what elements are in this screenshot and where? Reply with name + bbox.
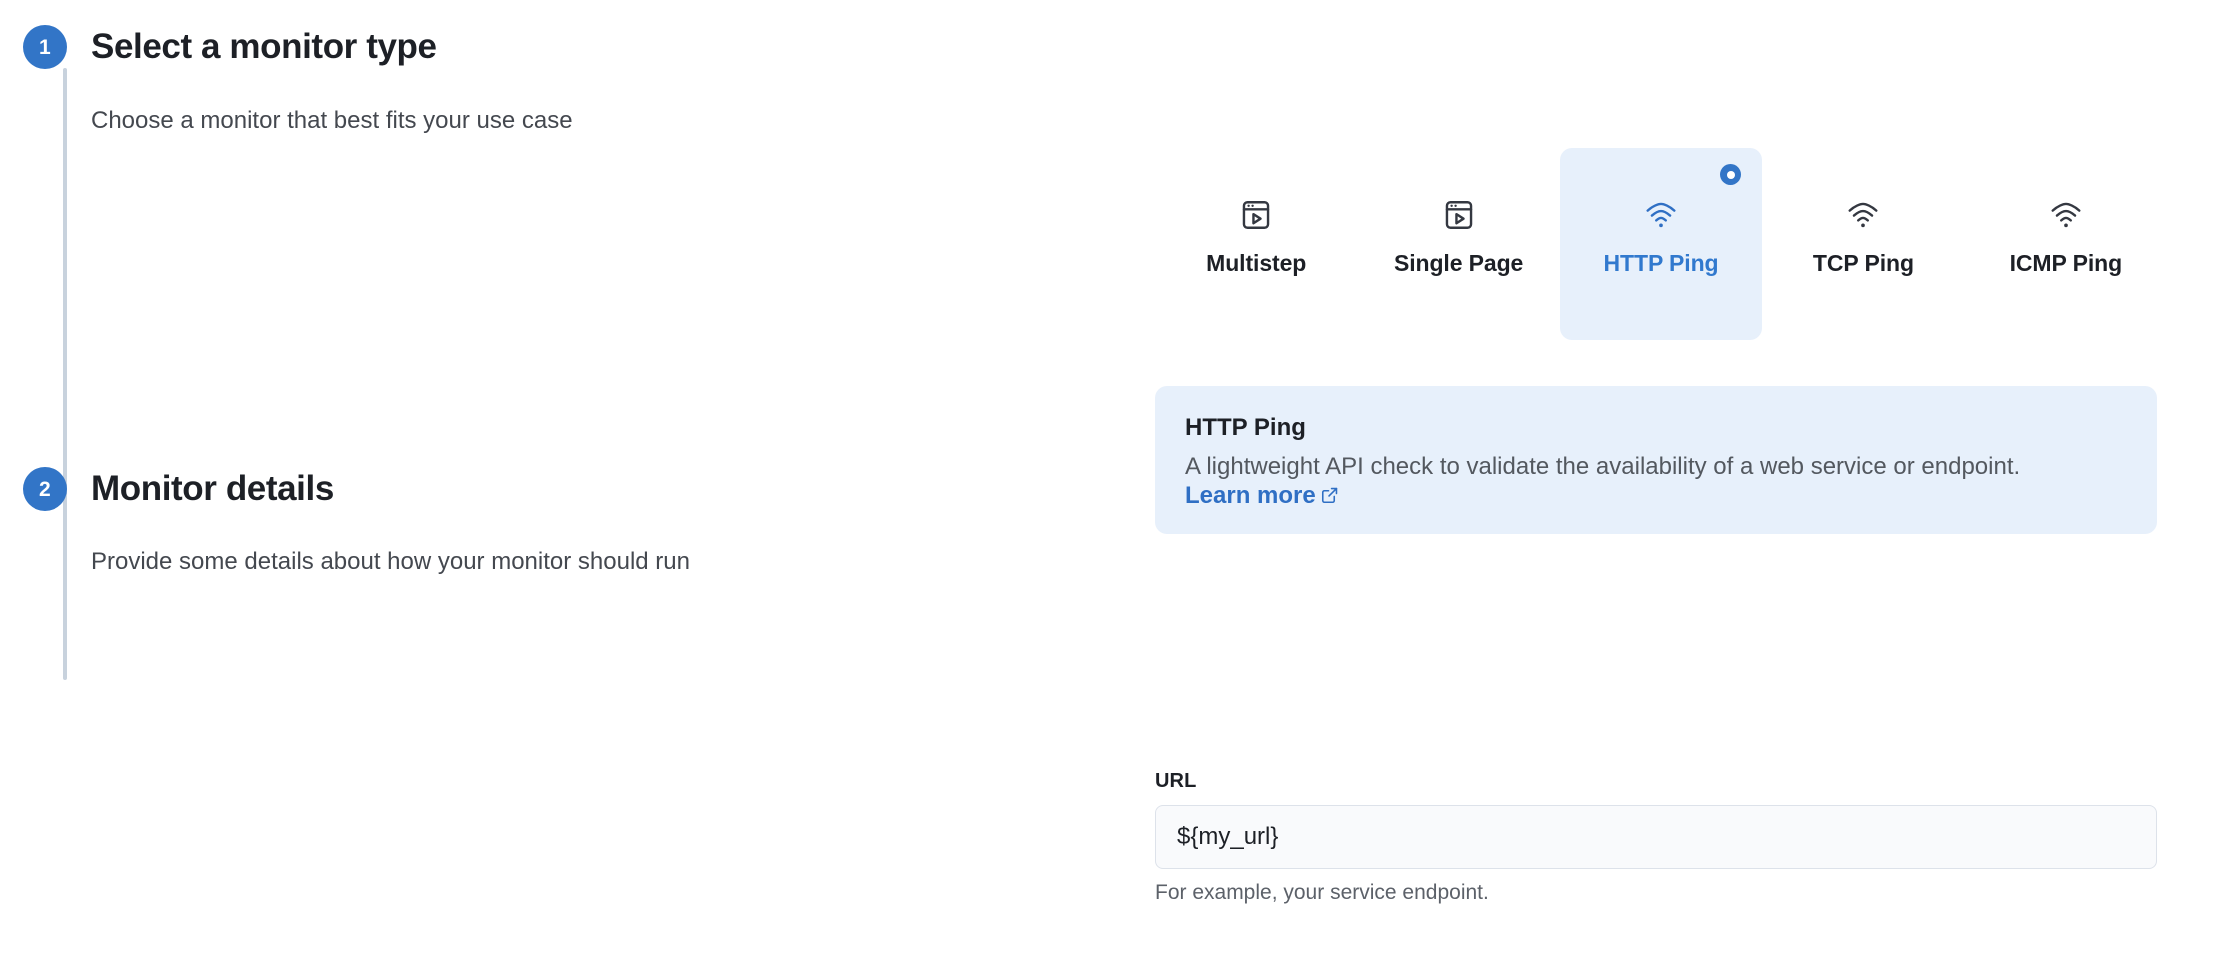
step-badge-2: 2	[23, 467, 67, 511]
info-panel-title: HTTP Ping	[1185, 414, 2127, 443]
browser-play-icon	[1442, 198, 1476, 232]
monitor-type-option-tcp-ping[interactable]: TCP Ping	[1762, 148, 1964, 340]
url-field-block: URL For example, your service endpoint.	[1155, 770, 2157, 905]
monitor-type-option-http-ping[interactable]: HTTP Ping	[1560, 148, 1762, 340]
form-right-column: Multistep Single Page	[1150, 0, 2218, 958]
monitor-type-selector: Multistep Single Page	[1155, 148, 2167, 340]
monitor-type-label: TCP Ping	[1813, 250, 1914, 277]
step-title-2: Monitor details	[91, 469, 334, 509]
url-field-help-text: For example, your service endpoint.	[1155, 881, 2157, 905]
step-number-1: 1	[39, 37, 51, 58]
external-link-icon	[1320, 483, 1339, 502]
monitor-type-label: Multistep	[1206, 250, 1306, 277]
step-number-2: 2	[39, 479, 51, 500]
monitor-type-label: ICMP Ping	[2010, 250, 2122, 277]
stepper-left-column: 1 Select a monitor type Choose a monitor…	[0, 0, 1150, 958]
monitor-type-info-panel: HTTP Ping A lightweight API check to val…	[1155, 386, 2157, 534]
monitor-type-option-single-page[interactable]: Single Page	[1357, 148, 1559, 340]
radio-selected-icon[interactable]	[1720, 164, 1741, 185]
url-field-label: URL	[1155, 770, 2157, 793]
wifi-icon	[2049, 198, 2083, 232]
step-subtitle-2: Provide some details about how your moni…	[91, 548, 690, 576]
monitor-type-option-icmp-ping[interactable]: ICMP Ping	[1965, 148, 2167, 340]
step-subtitle-1: Choose a monitor that best fits your use…	[91, 107, 573, 135]
create-monitor-page: 1 Select a monitor type Choose a monitor…	[0, 0, 2218, 958]
browser-play-icon	[1239, 198, 1273, 232]
step-title-1: Select a monitor type	[91, 27, 437, 67]
wifi-icon	[1846, 198, 1880, 232]
learn-more-link[interactable]: Learn more	[1185, 482, 1316, 509]
monitor-type-label: Single Page	[1394, 250, 1523, 277]
step-badge-1: 1	[23, 25, 67, 69]
url-input[interactable]	[1155, 805, 2157, 869]
info-panel-description: A lightweight API check to validate the …	[1185, 452, 2127, 511]
info-panel-description-text: A lightweight API check to validate the …	[1185, 453, 2020, 480]
wifi-icon	[1644, 198, 1678, 232]
learn-more-label: Learn more	[1185, 482, 1316, 509]
monitor-type-label: HTTP Ping	[1604, 250, 1719, 277]
monitor-type-option-multistep[interactable]: Multistep	[1155, 148, 1357, 340]
